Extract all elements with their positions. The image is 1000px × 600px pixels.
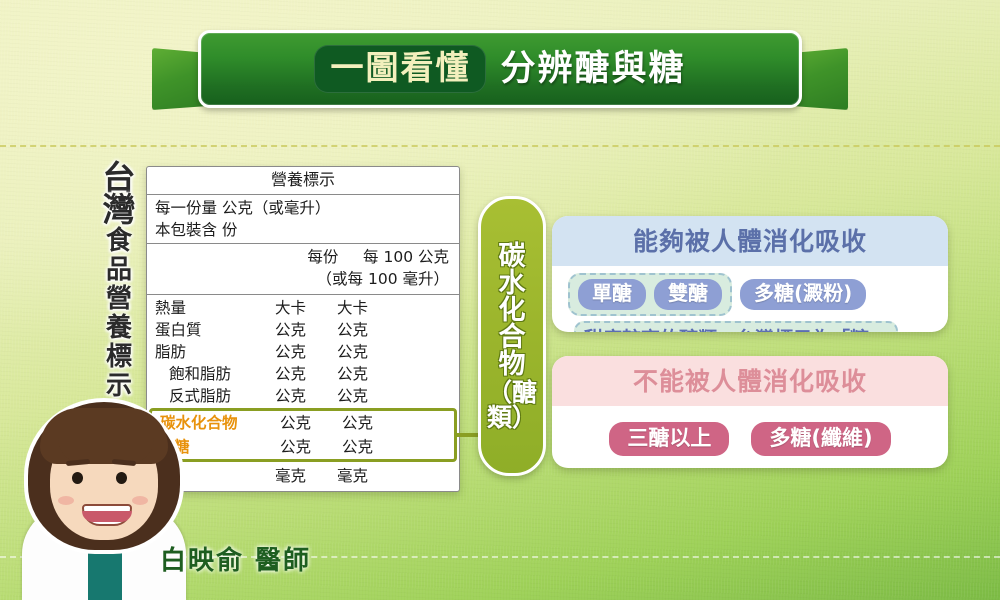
row-per-serving: 公克 xyxy=(280,412,342,434)
row-name: 熱量 xyxy=(155,297,275,319)
row-per-serving: 毫克 xyxy=(275,465,337,487)
nutrition-column-headers: 每份 每 100 公克 （或每 100 毫升） xyxy=(147,244,459,295)
carb-char-3: 化 xyxy=(499,297,526,324)
nutrition-serving-block: 每一份量 公克（或毫升） 本包裝含 份 xyxy=(147,195,459,244)
carb-char-4: 合 xyxy=(499,324,526,351)
row-per-100: 毫克 xyxy=(337,465,451,487)
page-title: 分辨醣與糖 xyxy=(500,49,685,89)
table-row: 飽和脂肪 公克 公克 xyxy=(147,363,459,385)
table-row: 糖 公克 公克 xyxy=(152,435,454,459)
caption-char-7: 標 xyxy=(106,345,132,370)
caption-char-6: 養 xyxy=(106,316,132,341)
carbohydrate-highlight-box: 碳水化合物 公克 公克 糖 公克 公克 xyxy=(149,408,457,462)
doctor-eye-right xyxy=(116,472,127,484)
row-per-serving: 公克 xyxy=(275,319,337,341)
caption-char-8: 示 xyxy=(106,374,132,399)
carb-char-5: 物 xyxy=(499,351,526,378)
panel-digestible-pill-row: 單醣 雙醣 多糖(澱粉) xyxy=(552,266,948,316)
pill-polysaccharide-starch: 多糖(澱粉) xyxy=(740,279,866,310)
panel-indigestible-header: 不能被人體消化吸收 xyxy=(552,356,948,406)
table-row: 脂肪 公克 公克 xyxy=(147,341,459,363)
panel-digestible-header: 能夠被人體消化吸收 xyxy=(552,216,948,266)
row-per-100: 公克 xyxy=(337,341,451,363)
caption-char-5: 營 xyxy=(106,287,132,312)
servings-per-pack-row: 本包裝含 份 xyxy=(155,219,451,241)
row-per-100: 公克 xyxy=(337,385,451,407)
doctor-name-caption: 白映俞 醫師 xyxy=(160,540,311,577)
banner-badge: 一圖看懂 xyxy=(314,45,486,94)
carb-pill-main-text: 碳 水 化 合 物 xyxy=(499,243,526,378)
carb-char-1: 碳 xyxy=(499,243,526,270)
caption-char-4: 品 xyxy=(106,258,132,283)
serving-size-row: 每一份量 公克（或毫升） xyxy=(155,197,451,219)
row-name: 蛋白質 xyxy=(155,319,275,341)
pill-disaccharide: 雙醣 xyxy=(654,279,722,310)
nutrition-table-title: 營養標示 xyxy=(147,167,459,195)
carb-sub-1: （醣 xyxy=(487,380,537,405)
sugar-note-text: 甜度較高的醣類，台灣標示為「糖」 xyxy=(574,321,898,332)
carb-char-2: 水 xyxy=(499,270,526,297)
row-per-serving: 公克 xyxy=(275,363,337,385)
pill-monosaccharide: 單醣 xyxy=(578,279,646,310)
doctor-cheek-left xyxy=(58,496,74,505)
row-per-serving: 公克 xyxy=(275,341,337,363)
panel-indigestible: 不能被人體消化吸收 三醣以上 多糖(纖維) xyxy=(552,356,948,468)
row-name: 脂肪 xyxy=(155,341,275,363)
taiwan-label-caption: 台 灣 食 品 營 養 標 示 xyxy=(98,162,140,422)
pill-trisaccharide-plus: 三醣以上 xyxy=(609,422,729,456)
panel-digestible: 能夠被人體消化吸收 單醣 雙醣 多糖(澱粉) 甜度較高的醣類，台灣標示為「糖」 xyxy=(552,216,948,332)
carb-pill-sub-text: （醣 類） xyxy=(487,380,537,430)
caption-char-1: 台 xyxy=(103,162,136,194)
infographic-canvas: 一圖看懂 分辨醣與糖 台 灣 食 品 營 養 標 示 營養標示 每一份量 公克（… xyxy=(0,0,1000,600)
doctor-eye-left xyxy=(72,472,83,484)
column-header-per-100ml: （或每 100 毫升） xyxy=(157,268,449,290)
row-per-serving: 公克 xyxy=(275,385,337,407)
table-row: 熱量 大卡 大卡 xyxy=(147,297,459,319)
carbohydrate-category-pill: 碳 水 化 合 物 （醣 類） xyxy=(478,196,546,476)
banner-body: 一圖看懂 分辨醣與糖 xyxy=(198,30,802,108)
row-per-100: 公克 xyxy=(342,436,446,458)
pill-polysaccharide-fiber: 多糖(纖維) xyxy=(751,422,890,456)
row-per-100: 公克 xyxy=(337,363,451,385)
panel-indigestible-pill-row: 三醣以上 多糖(纖維) xyxy=(552,406,948,456)
row-per-100: 公克 xyxy=(337,319,451,341)
table-row: 碳水化合物 公克 公克 xyxy=(152,411,454,435)
doctor-bangs xyxy=(40,408,168,464)
caption-char-3: 食 xyxy=(106,229,132,254)
row-per-100: 公克 xyxy=(342,412,446,434)
row-per-serving: 公克 xyxy=(280,436,342,458)
doctor-cheek-right xyxy=(132,496,148,505)
divider-top xyxy=(0,145,1000,147)
row-per-serving: 大卡 xyxy=(275,297,337,319)
row-name: 飽和脂肪 xyxy=(155,363,275,385)
column-header-per-100g: 每 100 公克 xyxy=(363,248,449,266)
caption-char-2: 灣 xyxy=(103,194,136,226)
column-header-line1: 每份 每 100 公克 xyxy=(157,246,449,268)
carb-sub-2: 類） xyxy=(487,405,537,430)
row-per-100: 大卡 xyxy=(337,297,451,319)
table-row: 蛋白質 公克 公克 xyxy=(147,319,459,341)
column-header-per-serving: 每份 xyxy=(307,248,338,266)
sugar-group-dashed-box: 單醣 雙醣 xyxy=(568,273,732,316)
title-banner: 一圖看懂 分辨醣與糖 xyxy=(150,14,850,114)
